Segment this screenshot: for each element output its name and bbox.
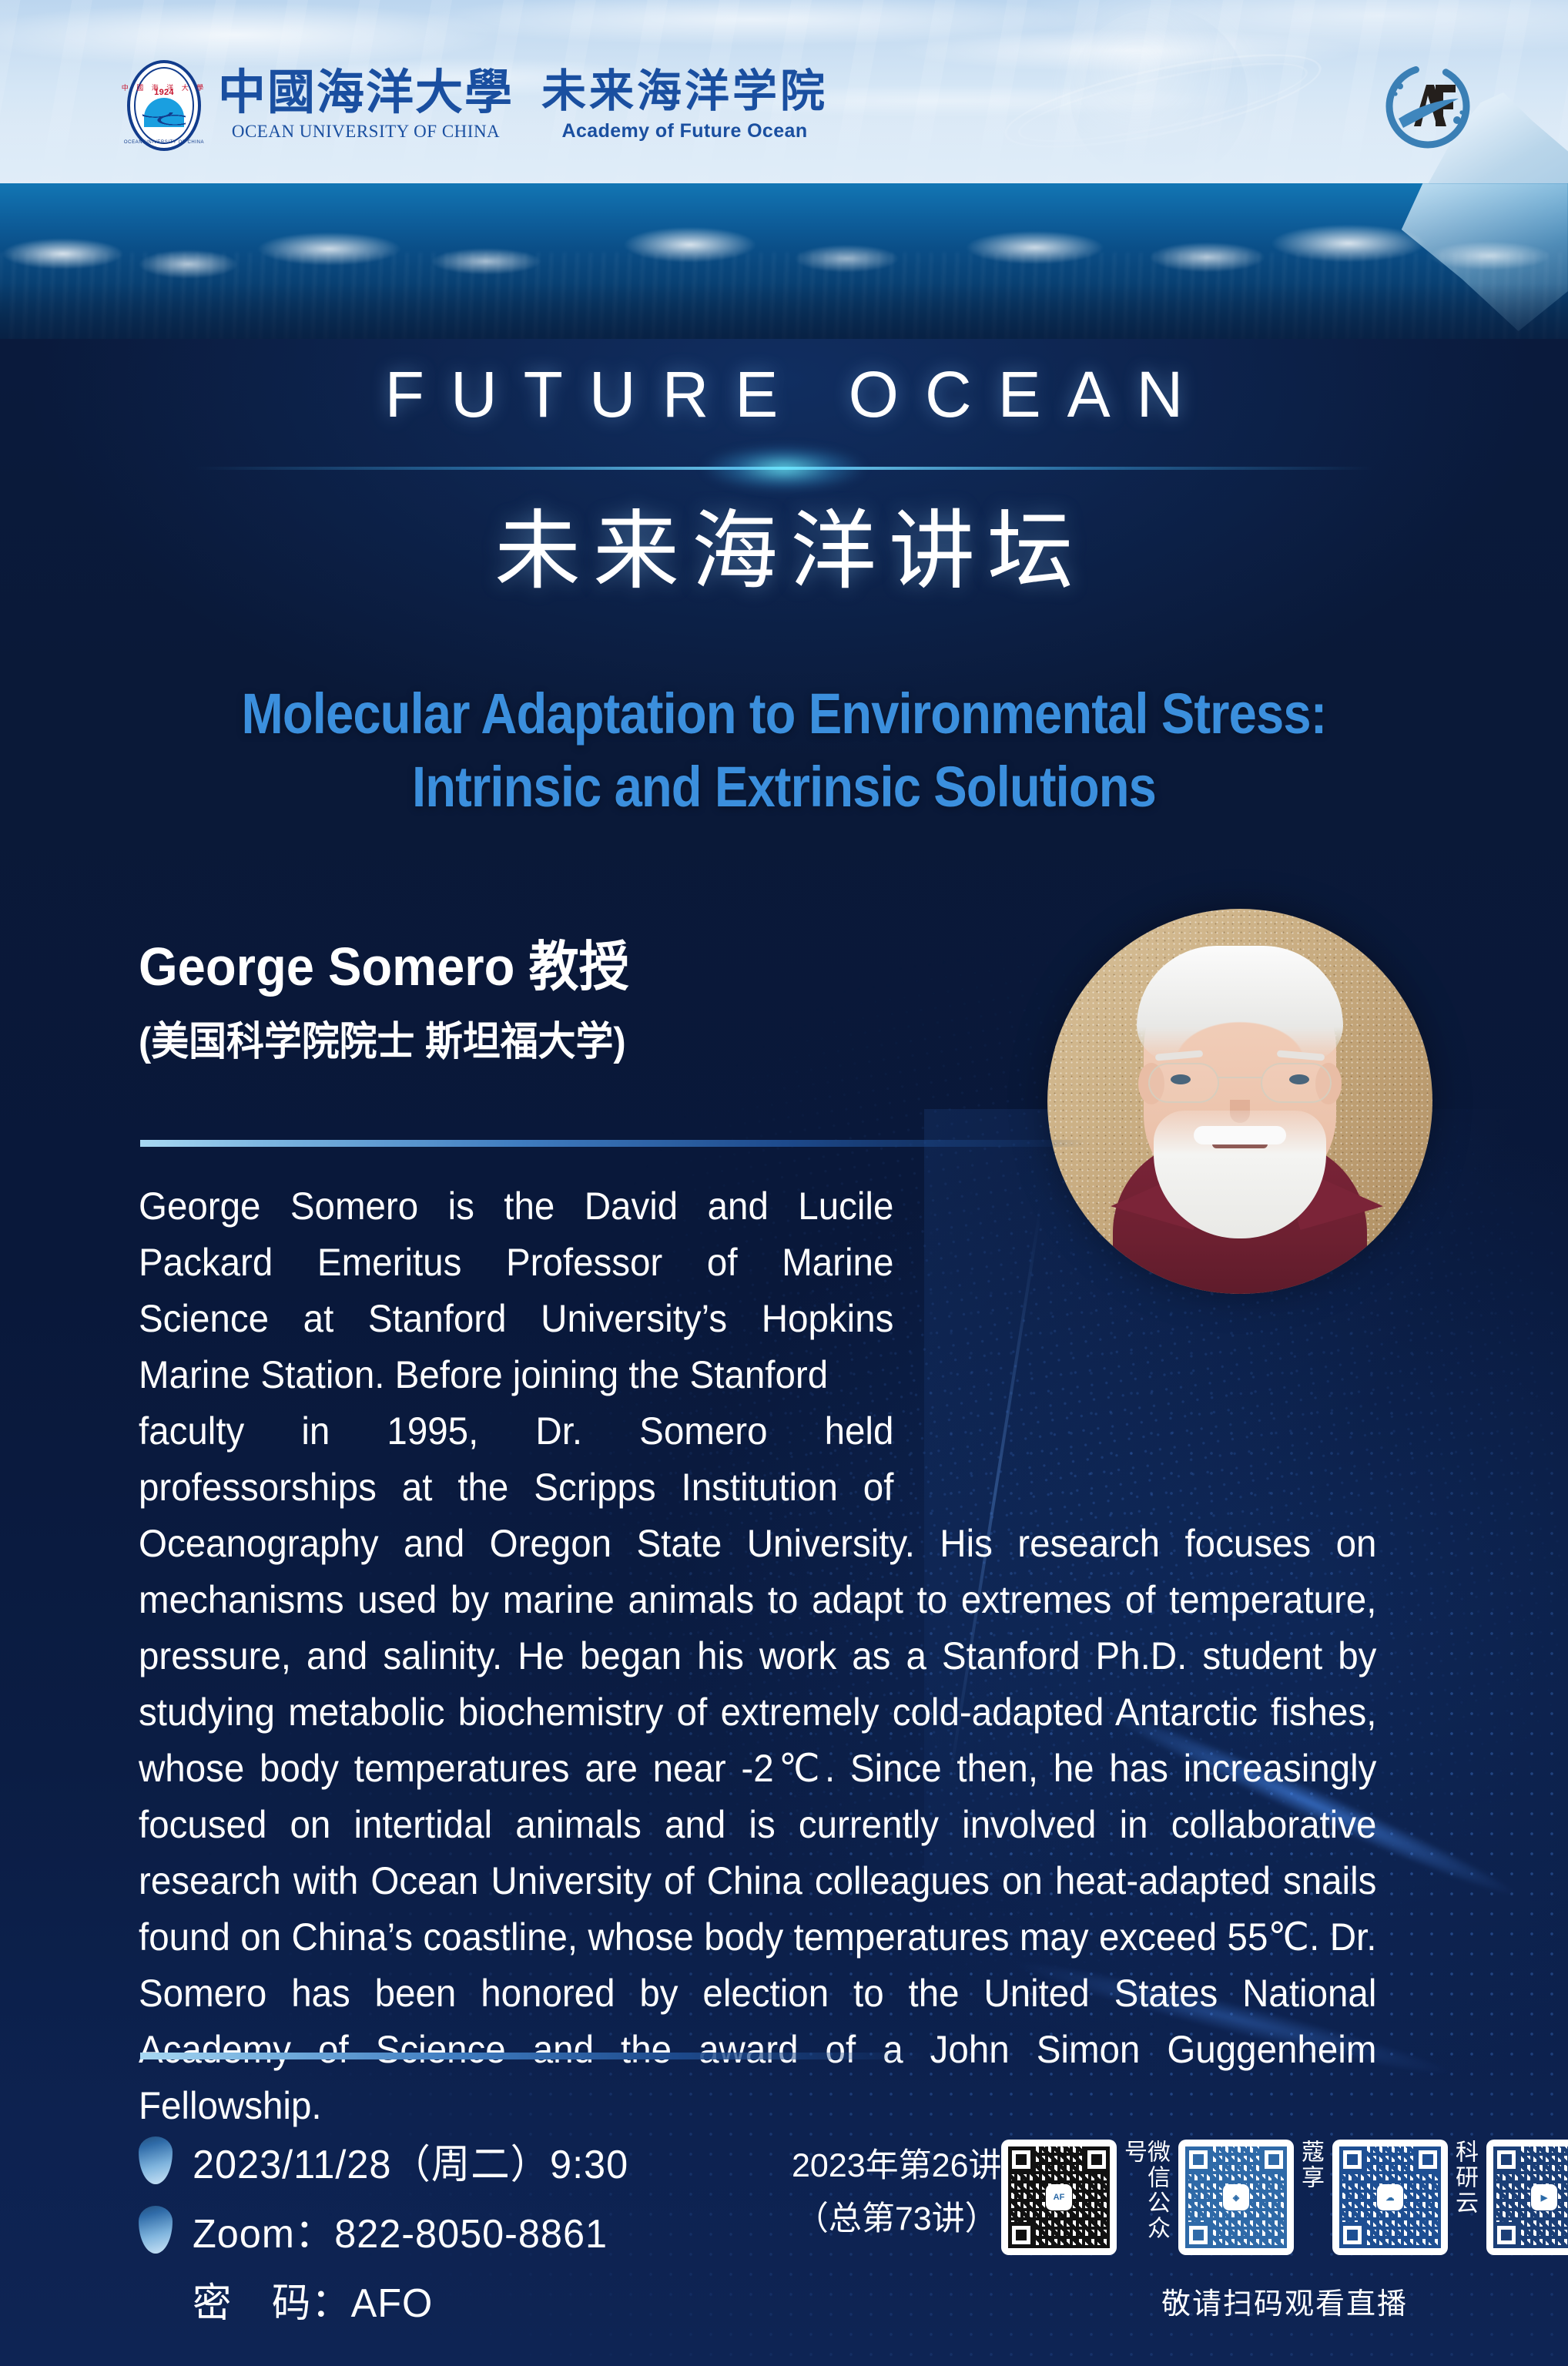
seal-wave-shape [142, 112, 186, 129]
qr-label-koushare: 蔻享 [1298, 2140, 1322, 2255]
qr-code-row: AF 微信公众号 ◈ 蔻享 ☁ 科研云 [1001, 2140, 1568, 2255]
speaker-bio: George Somero is the David and Lucile Pa… [139, 1178, 1376, 2134]
academy-name-cn: 未来海洋学院 [541, 69, 828, 114]
academy-wordmark: 未来海洋学院 Academy of Future Ocean [541, 69, 828, 142]
event-password: 密 码：AFO [193, 2270, 433, 2328]
ouc-seal-icon: 中 國 海 洋 大 學 1924 OCEAN UNIVERSITY OF CHI… [127, 60, 201, 151]
masthead: FUTURE OCEAN 未来海洋讲坛 [0, 362, 1568, 598]
qr-code-wechat[interactable]: AF [1001, 2140, 1117, 2255]
lecture-count-line-2: （总第73讲） [792, 2193, 1002, 2246]
university-name-cn: 中國海洋大學 [218, 69, 514, 117]
qr-center-logo-koushare: ◈ [1223, 2184, 1249, 2210]
qr-scan-caption: 敬请扫码观看直播 [1054, 2280, 1516, 2322]
poster-root: 中 國 海 洋 大 學 1924 OCEAN UNIVERSITY OF CHI… [0, 0, 1568, 2366]
lecture-count-line-1: 2023年第26讲 [792, 2140, 1002, 2193]
portrait-glasses-bridge [1218, 1077, 1262, 1078]
qr-center-logo-wechat: AF [1046, 2184, 1072, 2210]
qr-code-youtube[interactable]: ▶ [1486, 2140, 1568, 2255]
portrait-eyeglasses [1145, 1063, 1335, 1103]
masthead-title-en: FUTURE OCEAN [0, 362, 1568, 427]
qr-center-logo-youtube: ▶ [1531, 2184, 1557, 2210]
portrait-lens-left [1148, 1063, 1219, 1103]
divider-above-bio [140, 1140, 1087, 1147]
qr-code-keyanyun[interactable]: ☁ [1332, 2140, 1448, 2255]
water-drop-icon-2 [139, 2206, 173, 2254]
academy-name-en: Academy of Future Ocean [562, 120, 808, 142]
portrait-hair [1137, 946, 1343, 1061]
lecture-title-line-1: Molecular Adaptation to Environmental St… [94, 678, 1474, 751]
event-datetime-row: 2023/11/28（周二）9:30 [139, 2126, 642, 2195]
af-logo-icon [1380, 59, 1476, 154]
lecture-title-line-2: Intrinsic and Extrinsic Solutions [94, 751, 1474, 824]
bio-paragraph-rest: faculty in 1995, Dr. Somero held profess… [139, 1403, 1376, 2134]
qr-label-keyanyun: 科研云 [1452, 2140, 1476, 2255]
lecture-count-block: 2023年第26讲 （总第73讲） [792, 2140, 1002, 2246]
qr-label-wechat: 微信公众号 [1121, 2140, 1168, 2255]
university-name-en: OCEAN UNIVERSITY OF CHINA [232, 122, 500, 142]
event-zoom-row: Zoom：822-8050-8861 [139, 2195, 642, 2264]
university-wordmark: 中國海洋大學 OCEAN UNIVERSITY OF CHINA [218, 69, 514, 142]
masthead-glow-divider [195, 467, 1373, 470]
speaker-name: George Somero 教授 [139, 936, 629, 998]
event-zoom-id: Zoom：822-8050-8861 [193, 2201, 608, 2259]
water-drop-icon [139, 2136, 173, 2184]
masthead-title-cn: 未来海洋讲坛 [0, 504, 1568, 598]
qr-item-keyanyun[interactable]: ☁ 科研云 [1332, 2140, 1476, 2255]
event-info-block: 2023/11/28（周二）9:30 Zoom：822-8050-8861 密 … [139, 2126, 642, 2334]
qr-code-koushare[interactable]: ◈ [1178, 2140, 1294, 2255]
qr-item-youtube[interactable]: ▶ YouTube [1486, 2140, 1568, 2255]
speaker-affiliation: (美国科学院院士 斯坦福大学) [139, 1018, 635, 1066]
bio-portrait-wrap-spacer [893, 1178, 1376, 1486]
divider-above-event-info [140, 2053, 926, 2059]
drop-spacer [139, 2275, 173, 2323]
institution-logo-lockup: 中 國 海 洋 大 學 1924 OCEAN UNIVERSITY OF CHI… [127, 60, 828, 151]
speaker-block: George Somero 教授 (美国科学院院士 斯坦福大学) [139, 936, 666, 1066]
seal-arc-text: OCEAN UNIVERSITY OF CHINA [124, 140, 204, 145]
event-password-row: 密 码：AFO [139, 2264, 642, 2334]
qr-item-wechat[interactable]: AF 微信公众号 [1001, 2140, 1168, 2255]
event-datetime: 2023/11/28（周二）9:30 [193, 2132, 628, 2190]
qr-center-logo-keyanyun: ☁ [1377, 2184, 1403, 2210]
lecture-title: Molecular Adaptation to Environmental St… [94, 678, 1474, 823]
portrait-moustache [1194, 1126, 1286, 1144]
portrait-lens-right [1261, 1063, 1332, 1103]
seal-year: 1924 [154, 88, 174, 97]
qr-item-koushare[interactable]: ◈ 蔻享 [1178, 2140, 1322, 2255]
